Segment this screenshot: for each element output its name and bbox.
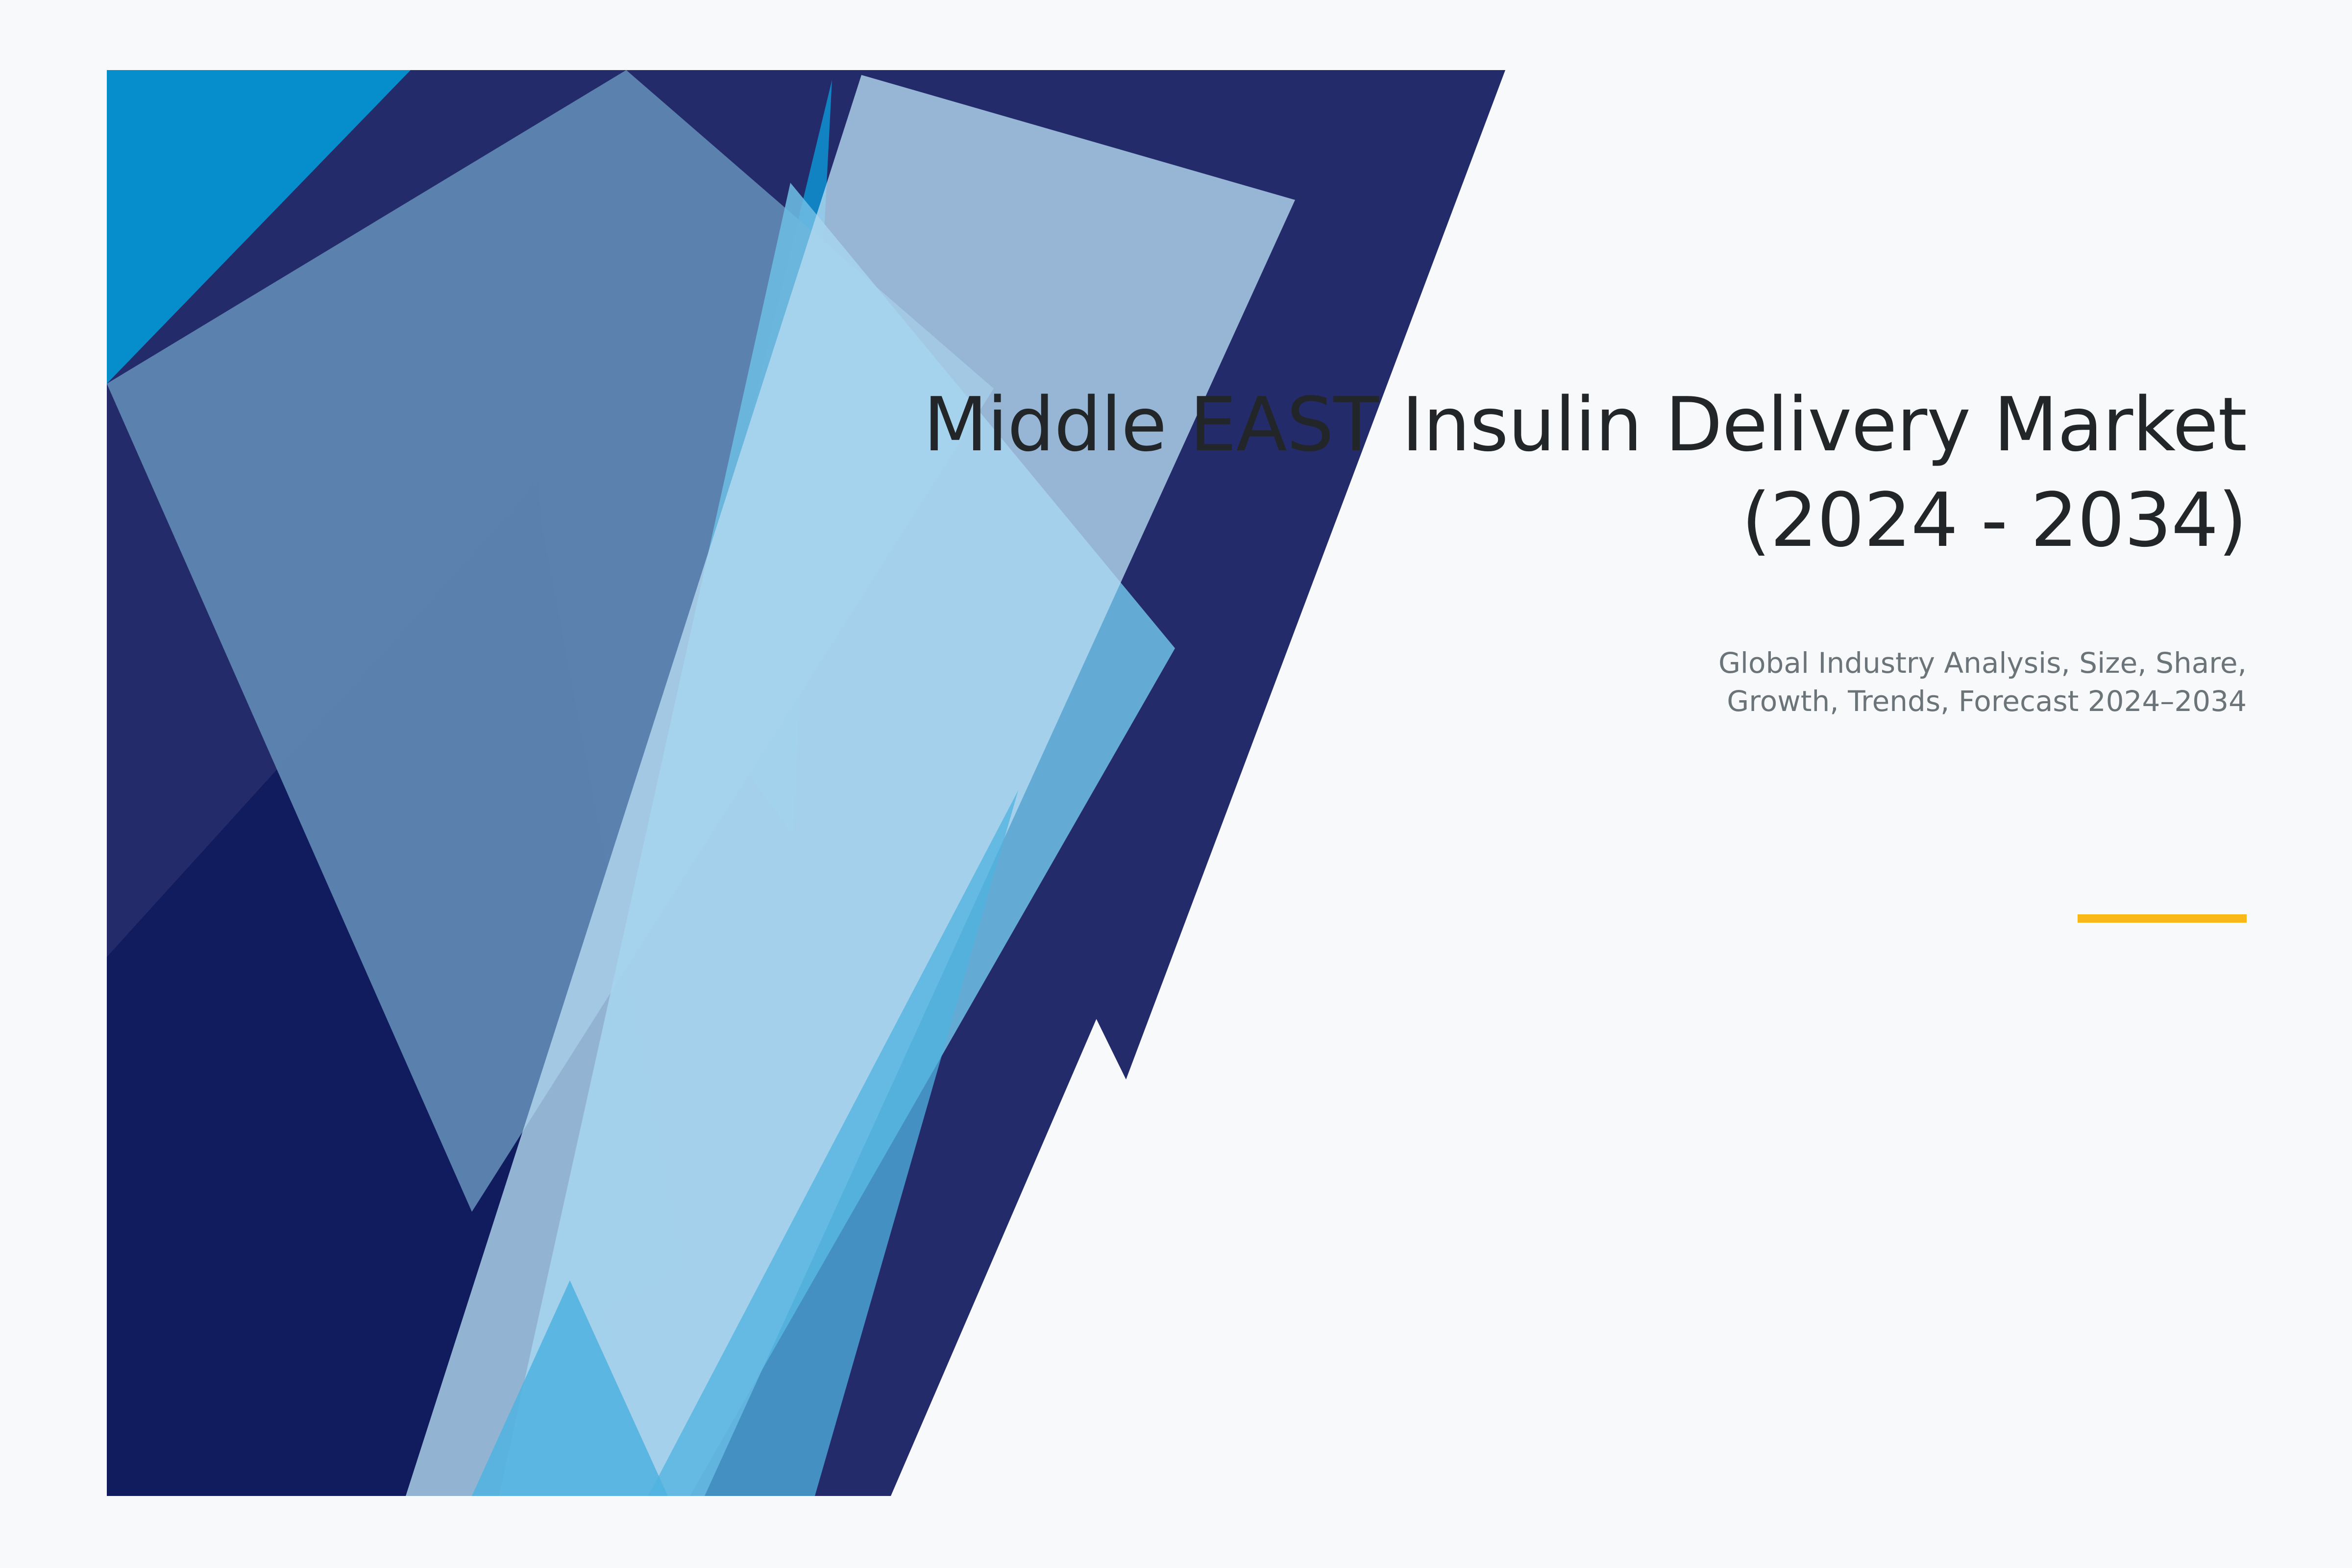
page-subtitle-line-1: Global Industry Analysis, Size, Share,: [1718, 646, 2247, 680]
title-block: Middle EAST Insulin Delivery Market(2024…: [826, 377, 2247, 568]
page-title-line-1: Middle EAST Insulin Delivery Market: [923, 381, 2247, 468]
page-subtitle-line-2: Growth, Trends, Forecast 2024–2034: [1727, 685, 2247, 718]
page-subtitle: Global Industry Analysis, Size, Share,Gr…: [1463, 644, 2247, 720]
title-accent-rule: [2078, 914, 2247, 923]
report-cover-page: Middle EAST Insulin Delivery Market(2024…: [0, 0, 2352, 1568]
page-title: Middle EAST Insulin Delivery Market(2024…: [826, 377, 2247, 568]
cover-artwork: [107, 70, 1508, 1496]
page-title-line-2: (2024 - 2034): [1741, 477, 2247, 563]
abstract-geometric-polygons-svg: [107, 70, 1508, 1496]
